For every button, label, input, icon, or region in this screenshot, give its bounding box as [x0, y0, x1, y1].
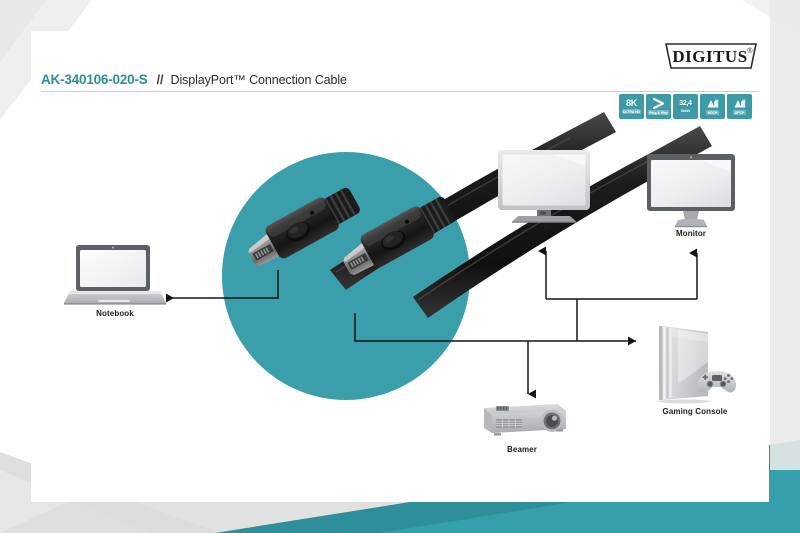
device-notebook-label: Notebook — [62, 309, 168, 318]
svg-text:DIGITUS: DIGITUS — [672, 47, 747, 66]
badge-hdcp: HDCP — [700, 94, 725, 119]
badge-bandwidth-unit: Gbit/s — [681, 109, 691, 113]
badge-dpcp: DPCP — [727, 94, 752, 119]
copy-protection-icon — [706, 98, 720, 109]
digitus-logo: DIGITUS ® — [662, 41, 760, 71]
badge-bandwidth-value: 32,4 — [679, 100, 691, 107]
title-separator: // — [157, 73, 164, 87]
device-notebook: Notebook — [62, 243, 168, 309]
feature-badges: 8K ULTRA HD Plug & Play 32,4 Gbit/s — [619, 94, 752, 119]
title-divider — [41, 91, 759, 92]
device-tv-label: TV — [496, 224, 592, 233]
product-name: DisplayPort™ Connection Cable — [171, 73, 347, 87]
badge-bandwidth: 32,4 Gbit/s — [673, 94, 698, 119]
page-title: AK-340106-020-S // DisplayPort™ Connecti… — [41, 72, 741, 89]
copy-protection-icon — [733, 98, 747, 109]
badge-hdcp-caption: HDCP — [706, 110, 719, 115]
badge-plug-and-play-caption: Plug & Play — [648, 110, 670, 115]
badge-8k-caption: ULTRA HD — [622, 109, 642, 114]
badge-dpcp-caption: DPCP — [733, 110, 745, 115]
badge-8k: 8K ULTRA HD — [619, 94, 644, 119]
device-monitor: Monitor — [645, 152, 737, 228]
badge-plug-and-play: Plug & Play — [646, 94, 671, 119]
chevron-right-icon — [652, 98, 666, 109]
device-beamer: Beamer — [474, 395, 570, 443]
device-monitor-label: Monitor — [645, 229, 737, 238]
product-infographic: DIGITUS ® AK-340106-020-S // DisplayPort… — [0, 0, 800, 533]
device-gaming-console: Gaming Console — [648, 318, 742, 406]
device-gaming-console-label: Gaming Console — [648, 407, 742, 416]
product-sku: AK-340106-020-S — [41, 72, 148, 87]
badge-8k-value: 8K — [626, 99, 637, 108]
device-tv: TV — [496, 148, 592, 224]
product-highlight-circle — [222, 152, 470, 400]
svg-text:®: ® — [747, 47, 753, 55]
device-beamer-label: Beamer — [474, 445, 570, 454]
